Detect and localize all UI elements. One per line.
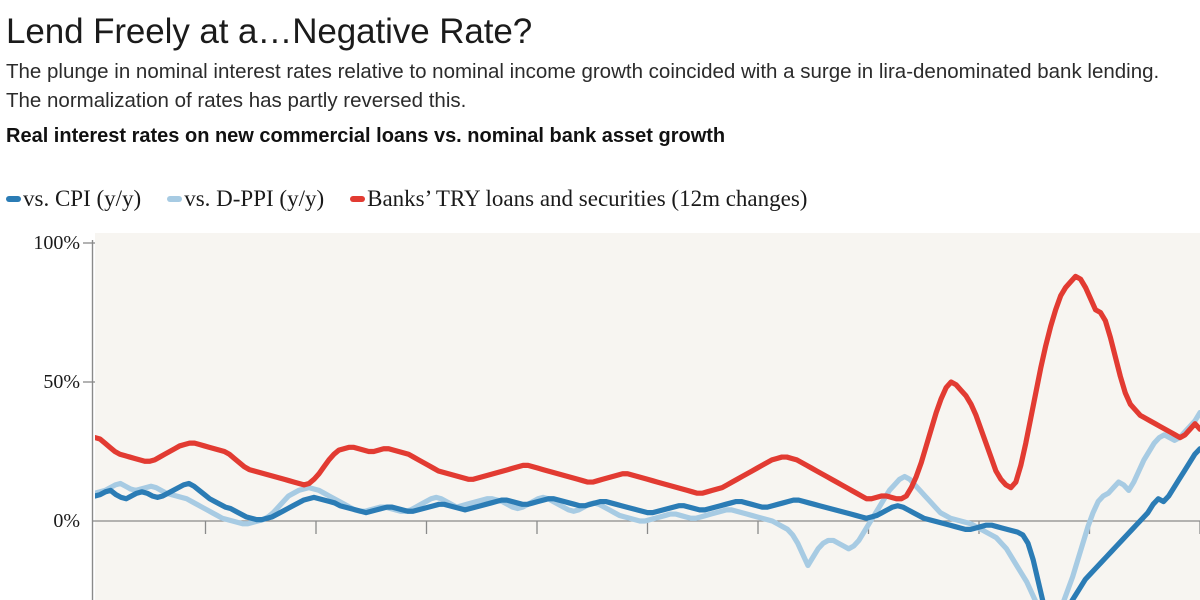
chart-legend: vs. CPI (y/y) vs. D-PPI (y/y) Banks’ TRY… — [6, 187, 807, 210]
legend-label-dppi: vs. D-PPI (y/y) — [184, 187, 324, 210]
plot-background — [95, 233, 1200, 600]
page-deck: The plunge in nominal interest rates rel… — [0, 49, 1198, 115]
chart-header: Lend Freely at a…Negative Rate? The plun… — [0, 0, 1200, 148]
page-title: Lend Freely at a…Negative Rate? — [0, 0, 1200, 49]
chart-area: 100% 50% 0% — [0, 233, 1200, 600]
legend-label-cpi: vs. CPI (y/y) — [23, 187, 141, 210]
legend-item-dppi[interactable]: vs. D-PPI (y/y) — [167, 187, 324, 210]
chart-page: Lend Freely at a…Negative Rate? The plun… — [0, 0, 1200, 600]
line-chart-plot — [0, 233, 1200, 600]
legend-swatch-dppi — [167, 196, 182, 202]
legend-item-cpi[interactable]: vs. CPI (y/y) — [6, 187, 141, 210]
legend-swatch-banks — [350, 196, 365, 202]
legend-label-banks: Banks’ TRY loans and securities (12m cha… — [367, 187, 807, 210]
legend-swatch-cpi — [6, 196, 21, 202]
chart-subtitle: Real interest rates on new commercial lo… — [0, 115, 1200, 148]
legend-item-banks[interactable]: Banks’ TRY loans and securities (12m cha… — [350, 187, 807, 210]
